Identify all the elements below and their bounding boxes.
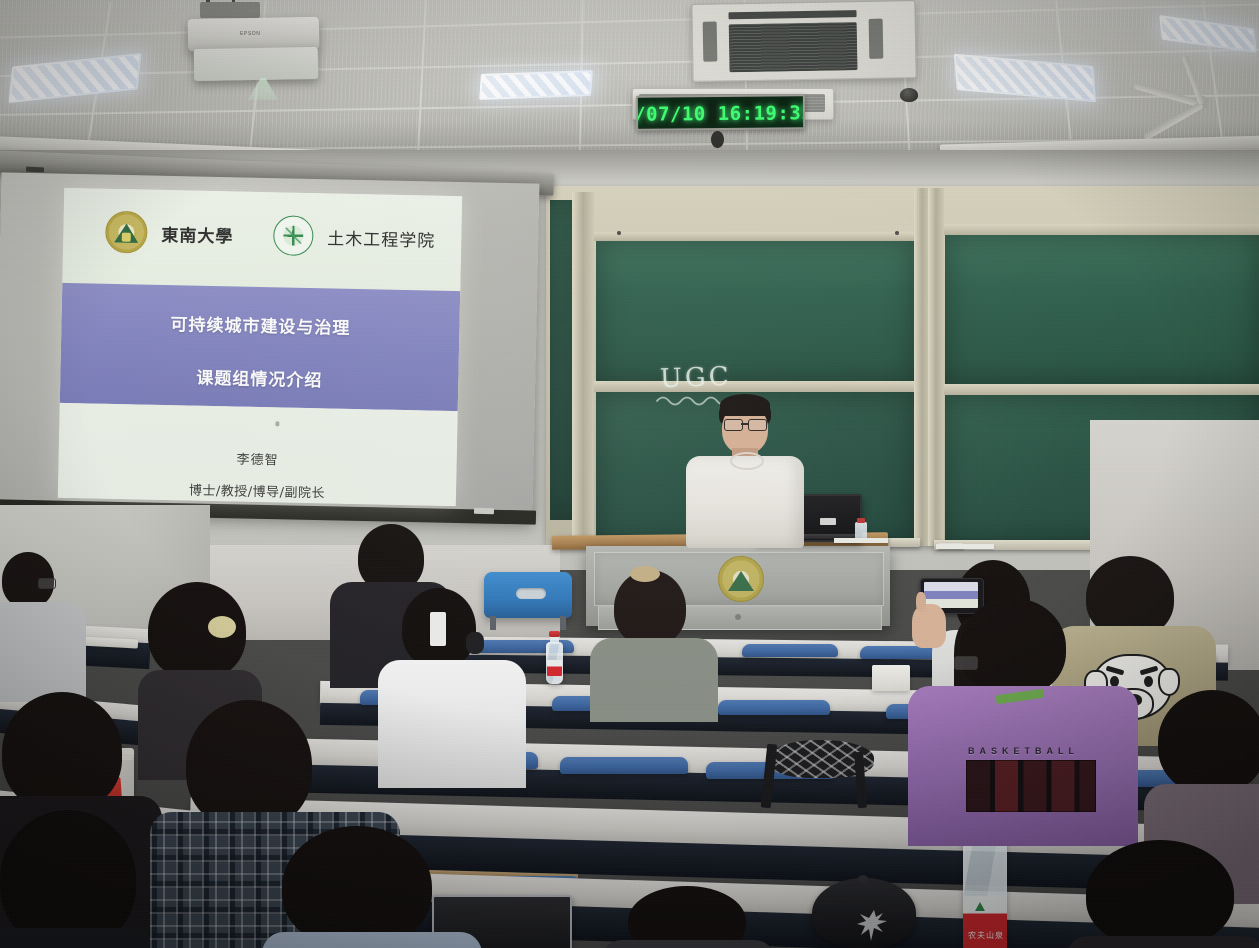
ac-side-slot-left <box>703 22 718 62</box>
ac-vent-bar <box>728 10 856 19</box>
student-head <box>628 886 746 948</box>
podium-university-emblem <box>718 556 764 602</box>
chalkboard-text-ugc: UGC <box>659 362 732 394</box>
chair-leg-left <box>490 616 496 630</box>
seat-r3-b[interactable] <box>560 757 688 774</box>
lecture-hall-photo: 24/07/10 16:19:35三 EPSON <box>0 0 1259 948</box>
student-head <box>2 692 122 812</box>
mouse-cursor-dot <box>275 421 279 426</box>
screen-pull-tab[interactable] <box>474 508 494 514</box>
seat-r2-c[interactable] <box>718 700 830 715</box>
podium-drawer-knob[interactable] <box>735 614 741 620</box>
student-torso <box>1066 936 1259 948</box>
cap-button <box>858 875 868 883</box>
blackboard-rail-right-top <box>941 224 1259 235</box>
presenter-glasses-left-lens <box>724 419 743 431</box>
presenter-collar <box>730 452 764 470</box>
student-head <box>960 598 1066 696</box>
tissue-box[interactable] <box>872 665 910 691</box>
ac-side-slot-right <box>869 19 884 59</box>
blackboard-fixture-dot-2 <box>895 231 899 235</box>
finger <box>916 592 926 612</box>
nongfu-mountain-icon <box>975 902 985 911</box>
slide-title-band: 可持续城市建设与治理 课题组情况介绍 <box>60 283 460 411</box>
presenter-glasses-bridge <box>741 423 748 425</box>
slide-title-line-1: 可持续城市建设与治理 <box>61 308 459 341</box>
student-head <box>1086 840 1234 948</box>
slide-logo-row: 東南大學 土木工程学院 <box>105 211 436 260</box>
blackboard-panel-sliver <box>550 200 574 520</box>
chair-leg-right <box>560 616 566 630</box>
bulldog-ear-right <box>1160 670 1178 694</box>
face-mask <box>466 632 484 654</box>
hair-scrunchie <box>208 616 236 638</box>
civil-engineering-seal-icon <box>273 215 314 256</box>
blackboard-panel-right-upper <box>945 235 1259 385</box>
blackboard-panel-left-upper <box>596 241 914 383</box>
student-glasses <box>954 656 978 670</box>
basketball-tee-text: BASKETBALL <box>968 746 1079 756</box>
ceiling-air-conditioner <box>691 0 916 82</box>
student-torso <box>262 932 482 948</box>
student-torso <box>378 660 526 788</box>
seat-r1-c[interactable] <box>742 644 838 657</box>
hair-scrunchie <box>630 566 660 582</box>
podium-bottle-cap <box>857 518 865 523</box>
blackboard-rail-right-mid <box>941 384 1259 395</box>
podium-papers-right[interactable] <box>936 544 994 549</box>
slide-title-line-2: 课题组情况介绍 <box>60 361 458 394</box>
jumpman-logo-icon <box>856 908 890 946</box>
bulldog-eye-right <box>1144 676 1153 687</box>
nongfu-label-text: 农夫山泉 <box>968 930 1004 941</box>
slide-footer-area: 李德智 博士/教授/博导/副院长 <box>58 403 458 506</box>
bottle-cap <box>549 631 560 637</box>
civil-college-label: 土木工程学院 <box>327 224 435 251</box>
laptop-logo <box>820 518 836 525</box>
screen-housing-cap <box>26 167 44 173</box>
blackboard-rail-left-top <box>592 232 918 241</box>
student-torso <box>600 940 776 948</box>
hair-clip <box>430 612 446 646</box>
chair-handle-slot <box>516 588 546 599</box>
blackboard-fixture-dot-1 <box>617 231 621 235</box>
ac-grille <box>729 22 858 72</box>
bottle-label <box>547 660 562 676</box>
blackboard-divider-left <box>572 192 594 540</box>
presenter-hair-top <box>720 394 770 416</box>
podium-papers[interactable] <box>834 538 888 543</box>
presentation-slide: 東南大學 土木工程学院 可持续城市建设与治理 课题组情况介绍 李德智 博士/教授… <box>58 188 462 506</box>
blackboard-divider-center-2 <box>928 188 944 546</box>
student-torso <box>590 638 718 722</box>
student-head <box>1158 690 1259 794</box>
blackboard-rail-left-mid <box>592 381 918 392</box>
student-head <box>186 700 312 830</box>
student-head <box>282 826 432 948</box>
seu-label: 東南大學 <box>161 220 234 247</box>
student-glasses <box>38 578 56 589</box>
southeast-university-seal-icon <box>105 211 148 254</box>
slide-presenter-name: 李德智 <box>59 445 457 472</box>
ceiling-light-panel-center <box>479 70 593 100</box>
dome-security-camera <box>900 88 918 102</box>
student-torso <box>0 602 86 702</box>
presenter-glasses-right-lens <box>748 419 767 431</box>
